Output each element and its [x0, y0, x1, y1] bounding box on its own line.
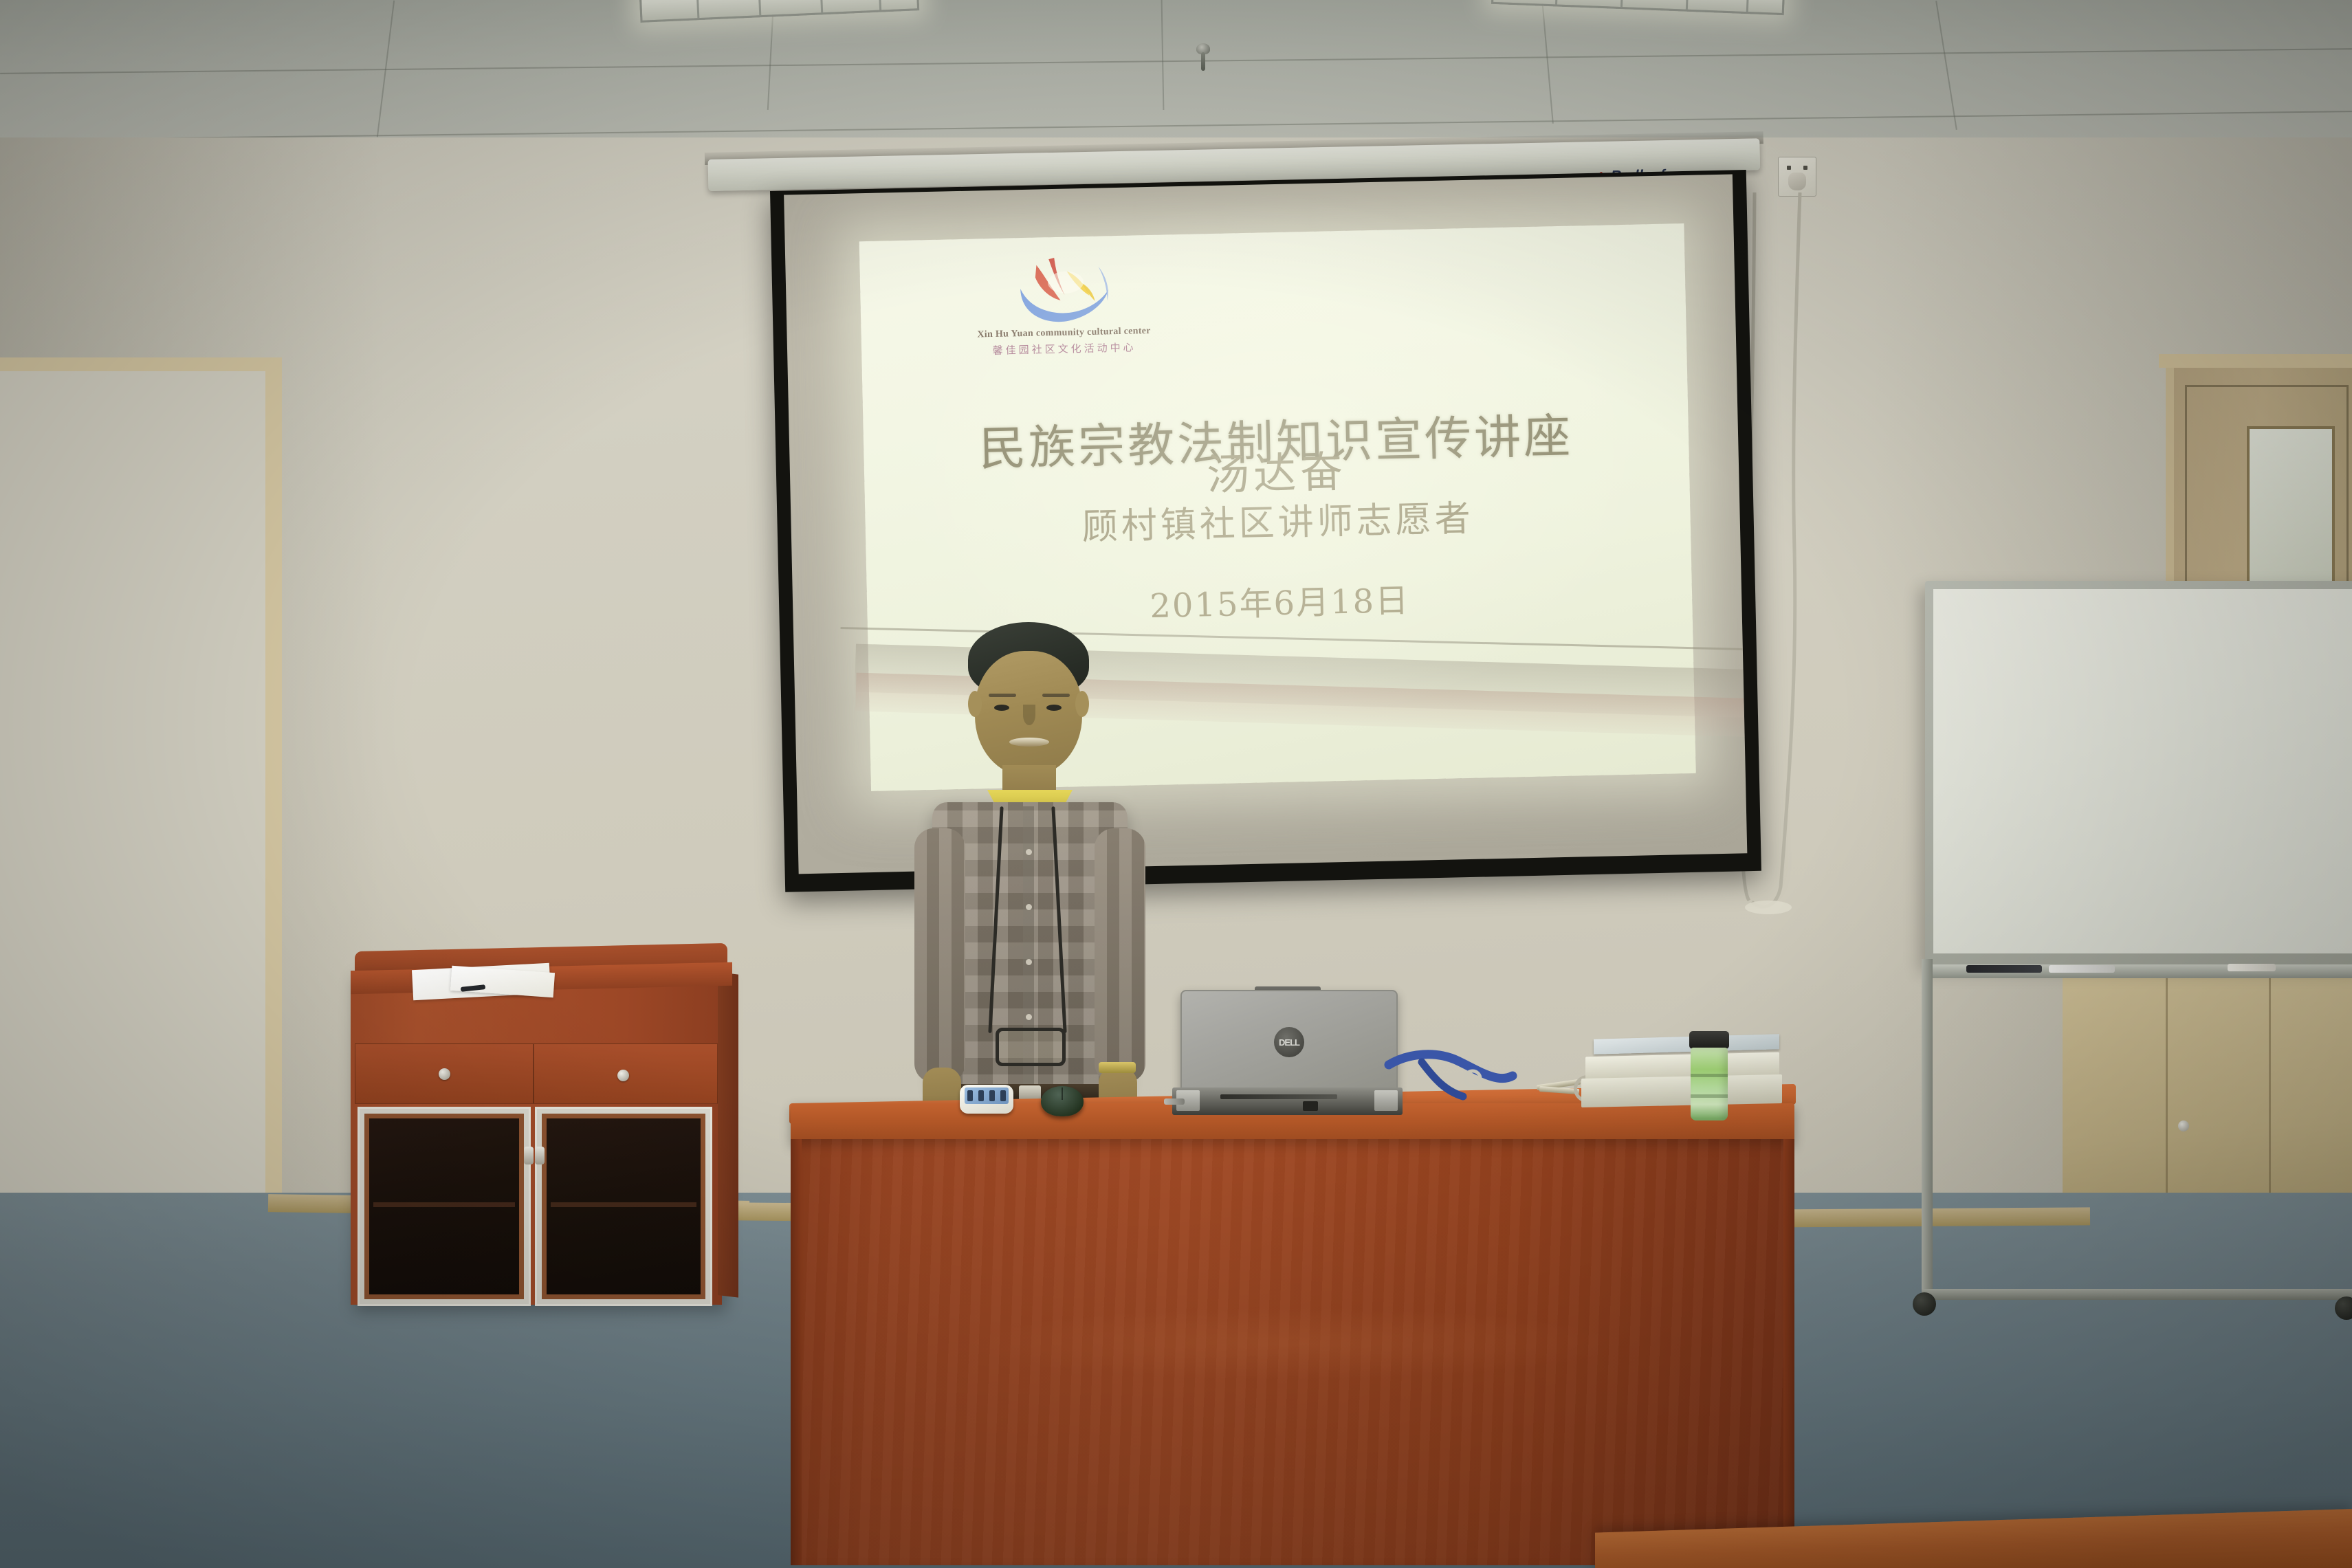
bottle-ring: [1691, 1074, 1728, 1077]
presenter: [908, 622, 1148, 1145]
drawer-knob[interactable]: [617, 1070, 629, 1081]
laptop-port[interactable]: [1303, 1101, 1318, 1111]
slide-logo: Xin Hu Yuan community cultural center 馨佳…: [973, 250, 1154, 364]
dell-logo-icon: DELL: [1274, 1027, 1304, 1057]
presenter-eye: [994, 705, 1009, 711]
bottle-body: [1691, 1048, 1728, 1120]
presenter-arm: [1095, 828, 1145, 1083]
cabinet-door-handle[interactable]: [524, 1147, 534, 1164]
left-cabinet[interactable]: [351, 947, 736, 1305]
laptop-base: [1172, 1087, 1403, 1115]
whiteboard-marker[interactable]: [2049, 965, 2115, 973]
whiteboard-caster: [1913, 1292, 1936, 1316]
presentation-desk[interactable]: [777, 1103, 1808, 1568]
cabinet-side-panel: [718, 972, 738, 1298]
cabinet-door-handle[interactable]: [535, 1147, 545, 1164]
presenter-mouth: [1009, 738, 1049, 747]
desk-front-panel: [791, 1139, 1794, 1565]
power-plug: [1788, 173, 1806, 190]
bottle-cap: [1689, 1031, 1729, 1049]
cabinet-glass-door[interactable]: [535, 1107, 712, 1306]
door-header-trim: [2159, 354, 2352, 368]
wristwatch-icon: [1099, 1062, 1136, 1073]
presenter-nose: [1023, 705, 1035, 725]
left-doorframe[interactable]: [0, 357, 282, 1224]
whiteboard-marker[interactable]: [1966, 965, 2042, 973]
whiteboard-eraser[interactable]: [2228, 964, 2276, 971]
presenter-remote[interactable]: [960, 1085, 1013, 1114]
fire-sprinkler-icon: [1196, 43, 1210, 71]
cabinet-knob[interactable]: [2178, 1120, 2189, 1131]
presenter-eye: [1046, 705, 1062, 711]
desk-edge: [791, 1139, 802, 1565]
desk-edge: [1783, 1139, 1794, 1565]
presenter-ear: [968, 691, 982, 717]
laptop-lid: DELL: [1180, 990, 1398, 1094]
blue-lanyard[interactable]: [1382, 1048, 1519, 1117]
slide-logo-chinese: 馨佳园社区文化活动中心: [975, 340, 1154, 358]
dell-laptop[interactable]: DELL: [1172, 990, 1403, 1115]
wall-outlet[interactable]: [1778, 157, 1816, 197]
eyeglasses-icon: [996, 1028, 1066, 1066]
laptop-vent: [1220, 1094, 1337, 1099]
bottle-ring: [1691, 1094, 1728, 1098]
drawer-knob[interactable]: [439, 1068, 450, 1080]
computer-mouse[interactable]: [1041, 1086, 1084, 1116]
door-window-icon: [2247, 426, 2335, 590]
usb-stick-icon[interactable]: [1164, 1098, 1185, 1105]
presenter-arm: [914, 828, 965, 1083]
book-stack[interactable]: [1581, 1038, 1788, 1105]
book: [1581, 1074, 1782, 1107]
presenter-ear: [1075, 691, 1089, 717]
cabinet-glass-door[interactable]: [358, 1107, 531, 1306]
whiteboard-stand-leg: [1922, 959, 1933, 1303]
community-center-logo-icon: [1000, 251, 1132, 329]
classroom-photo: Redleaf: [0, 0, 2352, 1568]
whiteboard-surface[interactable]: [1933, 589, 2352, 953]
whiteboard-stand-base: [1922, 1289, 2352, 1300]
